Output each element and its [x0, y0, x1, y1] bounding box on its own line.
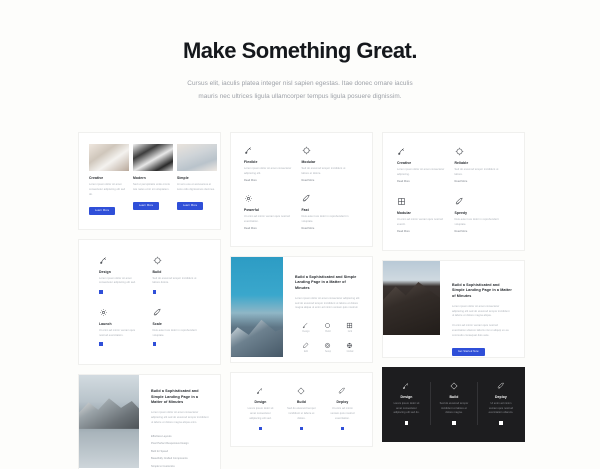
item-body: Ut enim ad minim veniam quis nostrud exe…: [328, 407, 357, 421]
item-body: Lorem ipsum dolor sit amet consectetur a…: [391, 402, 422, 416]
desk-flatlay-photo: [89, 144, 129, 171]
icon-item[interactable]: Global: [339, 342, 361, 353]
grid-column-2: Flexible Lorem ipsum dolor sit amet cons…: [230, 132, 373, 469]
icon-label: Design: [295, 331, 317, 333]
split-layout: Build a Sophisticated and Simple Landing…: [383, 261, 524, 357]
gear-icon: [244, 194, 295, 203]
card-title: Build a Sophisticated and Simple Landing…: [151, 389, 210, 406]
item-title: Launch: [99, 322, 144, 327]
icon-item[interactable]: Scale Duis aute irure dolor in reprehend…: [153, 308, 207, 346]
icon-item[interactable]: Deploy Ut enim ad minim veniam quis nost…: [322, 387, 363, 430]
card-body: Lorem ipsum dolor sit amet consectetur a…: [295, 297, 361, 311]
read-more-link[interactable]: Read More: [302, 179, 353, 183]
snow-mountain-blue-sky-photo: [231, 257, 283, 357]
grid-icon: [346, 322, 353, 329]
list-item: Effortless Layouts: [151, 435, 210, 439]
list-item: Pixel Perfect Responsive Design: [151, 442, 210, 446]
gear-icon: [99, 308, 144, 317]
image-columns-card[interactable]: Creative Lorem ipsum dolor sit amet cons…: [78, 132, 221, 230]
brush-icon: [244, 146, 295, 155]
item-body: Duis aute irure dolor in reprehenderit v…: [153, 329, 198, 339]
item-body: Lorem ipsum dolor sit amet consectetur a…: [244, 167, 295, 177]
icon-grid: Flexible Lorem ipsum dolor sit amet cons…: [244, 146, 359, 231]
icon-item[interactable]: Fast Duis aute irure dolor in reprehende…: [302, 194, 360, 231]
read-more-link[interactable]: Read More: [244, 227, 295, 231]
icon-item[interactable]: Grid: [339, 322, 361, 333]
accent-square: [341, 427, 345, 431]
item-title: Creative: [89, 176, 129, 181]
learn-more-button[interactable]: Learn More: [177, 202, 203, 210]
accent-square: [99, 290, 103, 294]
icon-grid: Creative Lorem ipsum dolor sit amet cons…: [397, 147, 512, 234]
split-layout: Build a Sophisticated and Simple Landing…: [231, 257, 372, 363]
icon-row: Design Lorem ipsum dolor sit amet consec…: [240, 387, 363, 430]
dark-three-column-card[interactable]: Design Lorem ipsum dolor sit amet consec…: [382, 367, 525, 442]
split-content: Build a Sophisticated and Simple Landing…: [139, 375, 220, 469]
item-title: Creative: [397, 161, 447, 166]
item-body: Ut enim ad minim veniam quis nostrud exe…: [397, 218, 447, 228]
icon-item[interactable]: Design Lorem ipsum dolor sit amet consec…: [240, 387, 281, 430]
accent-square: [153, 290, 157, 294]
rocket-icon: [455, 197, 505, 206]
icon-item[interactable]: Design Lorem ipsum dolor sit amet consec…: [383, 382, 430, 425]
icon-grid-blue-card[interactable]: Design Lorem ipsum dolor sit amet consec…: [78, 239, 221, 365]
item-body: Sed do eiusmod tempor incididunt ut labo…: [287, 407, 316, 421]
item-body: Sed ut perspiciatis unde omnis iste natu…: [133, 183, 173, 193]
mini-icon-grid: Design Build: [295, 322, 361, 362]
gear-icon: [324, 342, 331, 349]
icon-item[interactable]: Modular Sed do eiusmod tempor incididunt…: [302, 146, 360, 183]
rocket-icon: [153, 308, 198, 317]
icon-item[interactable]: Build Sed do eiusmod tempor incididunt u…: [430, 382, 477, 425]
icon-item[interactable]: Modular Ut enim ad minim veniam quis nos…: [397, 197, 455, 234]
item-title: Design: [99, 270, 144, 275]
split-layout: Build a Sophisticated and Simple Landing…: [79, 375, 220, 469]
learn-more-button[interactable]: Learn More: [133, 202, 159, 210]
item-title: Deploy: [486, 395, 516, 400]
item-body: Sed do eiusmod tempor incididunt ut labo…: [153, 277, 198, 287]
circle-icon: [324, 322, 331, 329]
item-title: Design: [246, 400, 275, 405]
rocket-icon: [497, 382, 505, 390]
circle-icon: [455, 147, 505, 156]
circle-icon: [450, 382, 458, 390]
brush-icon: [256, 387, 264, 395]
split-content: Build a Sophisticated and Simple Landing…: [283, 257, 372, 363]
card-body-first: Lorem ipsum dolor sit amet consectetur a…: [452, 305, 512, 319]
accent-square: [300, 427, 304, 431]
item-title: Build: [439, 395, 469, 400]
icon-item[interactable]: Reliable Sed do eiusmod tempor incididun…: [455, 147, 513, 184]
rocket-icon: [338, 387, 346, 395]
icon-item[interactable]: Flexible Lorem ipsum dolor sit amet cons…: [244, 146, 302, 183]
page-root: Make Something Great. Cursus elit, iacul…: [0, 0, 600, 469]
list-item: Simple to Customize: [151, 465, 210, 469]
item-title: Reliable: [455, 161, 505, 166]
item-body: Sed do eiusmod tempor incididunt ut labo…: [455, 168, 505, 178]
card-body-second: Ut enim ad minim veniam quis nostrud exe…: [452, 324, 512, 338]
icon-label: Global: [339, 351, 361, 353]
alpine-lake-boat-photo: [79, 375, 139, 468]
icon-item[interactable]: Build Sed do eiusmod tempor incididunt u…: [281, 387, 322, 430]
photo-split-button-card[interactable]: Build a Sophisticated and Simple Landing…: [382, 260, 525, 358]
icon-item[interactable]: Deploy Ut enim ad minim veniam quis nost…: [477, 382, 524, 425]
read-more-link[interactable]: Read More: [397, 180, 447, 184]
icon-label: Build: [317, 331, 339, 333]
item-title: Modular: [302, 160, 353, 165]
three-column-icons-card[interactable]: Design Lorem ipsum dolor sit amet consec…: [230, 372, 373, 447]
icon-item[interactable]: Powerful Ut enim ad minim veniam quis no…: [244, 194, 302, 231]
item-body: Ut enim ad minim veniam quis nostrud exe…: [244, 215, 295, 225]
list-item: Built for Speed: [151, 450, 210, 454]
image-row: Creative Lorem ipsum dolor sit amet cons…: [89, 144, 210, 216]
icon-item[interactable]: Build Sed do eiusmod tempor incididunt u…: [153, 256, 207, 294]
hero-section: Make Something Great. Cursus elit, iacul…: [0, 0, 600, 103]
read-more-link[interactable]: Read More: [397, 230, 447, 234]
item-body: Sed do eiusmod tempor incididunt ut labo…: [439, 402, 469, 416]
icon-row: Design Lorem ipsum dolor sit amet consec…: [383, 382, 524, 425]
dark-volcanic-mountain-photo: [383, 261, 440, 335]
icon-item[interactable]: Launch Ut enim ad minim veniam quis nost…: [99, 308, 153, 346]
item-title: Scale: [153, 322, 198, 327]
icon-item[interactable]: Creative Lorem ipsum dolor sit amet cons…: [397, 147, 455, 184]
learn-more-button[interactable]: Learn More: [89, 207, 115, 215]
circle-icon: [302, 146, 353, 155]
circle-icon: [297, 387, 305, 395]
card-title: Build a Sophisticated and Simple Landing…: [295, 275, 361, 292]
item-title: Flexible: [244, 160, 295, 165]
item-title: Modular: [397, 211, 447, 216]
photo-split-icons-card[interactable]: Build a Sophisticated and Simple Landing…: [230, 256, 373, 364]
brush-icon: [402, 382, 410, 390]
accent-square: [99, 342, 103, 346]
icon-grid-card-wide[interactable]: Creative Lorem ipsum dolor sit amet cons…: [382, 132, 525, 251]
brush-icon: [397, 147, 447, 156]
item-title: Deploy: [328, 400, 357, 405]
accent-square: [452, 421, 456, 425]
item-title: Modern: [133, 176, 173, 181]
item-title: Simple: [177, 176, 217, 181]
pencil-icon: [302, 342, 309, 349]
grid-icon: [397, 197, 447, 206]
card-body: Lorem ipsum dolor sit amet consectetur a…: [151, 411, 210, 425]
feature-list: Effortless Layouts Pixel Perfect Respons…: [151, 435, 210, 469]
item-body: Sed do eiusmod tempor incididunt ut labo…: [302, 167, 353, 177]
item-body: Ut enim ad minim veniam quis nostrud exe…: [99, 329, 144, 339]
card-title: Build a Sophisticated and Simple Landing…: [452, 283, 512, 300]
read-more-link[interactable]: Read More: [455, 180, 505, 184]
accent-square: [259, 427, 263, 431]
item-body: Lorem ipsum dolor sit amet consectetur a…: [99, 277, 144, 287]
page-subtitle: Cursus elit, iaculis platea integer nisl…: [184, 78, 416, 103]
rocket-icon: [302, 194, 353, 203]
item-body: Ut enim ad minim veniam quis nostrud exe…: [486, 402, 516, 416]
item-title: Speedy: [455, 211, 505, 216]
item-body: Lorem ipsum dolor sit amet consectetur a…: [89, 183, 129, 197]
grid-column-1: Creative Lorem ipsum dolor sit amet cons…: [78, 132, 221, 469]
item-title: Build: [153, 270, 198, 275]
brush-icon: [302, 322, 309, 329]
circle-icon: [153, 256, 198, 265]
accent-square: [153, 342, 157, 346]
page-title: Make Something Great.: [0, 38, 600, 64]
read-more-link[interactable]: Read More: [455, 230, 505, 234]
photo-split-list-card[interactable]: Build a Sophisticated and Simple Landing…: [78, 374, 221, 469]
image-item[interactable]: Creative Lorem ipsum dolor sit amet cons…: [89, 144, 129, 216]
get-started-button[interactable]: Get Started Now: [452, 348, 485, 356]
accent-square: [405, 421, 409, 425]
item-body: Duis aute irure dolor in reprehenderit v…: [455, 218, 505, 228]
accent-square: [499, 421, 503, 425]
icon-item[interactable]: Speedy Duis aute irure dolor in reprehen…: [455, 197, 513, 234]
read-more-link[interactable]: Read More: [244, 179, 295, 183]
icon-item[interactable]: Design: [295, 322, 317, 333]
item-body: Duis aute irure dolor in reprehenderit i…: [302, 215, 353, 225]
icon-item[interactable]: Build: [317, 322, 339, 333]
icon-item[interactable]: Setup: [317, 342, 339, 353]
item-title: Powerful: [244, 208, 295, 213]
icon-label: Grid: [339, 331, 361, 333]
item-body: At vero eos et accusamus et iusto odio d…: [177, 183, 217, 193]
brush-icon: [99, 256, 144, 265]
image-item[interactable]: Simple At vero eos et accusamus et iusto…: [177, 144, 217, 216]
card-grid: Creative Lorem ipsum dolor sit amet cons…: [78, 132, 526, 469]
item-title: Build: [287, 400, 316, 405]
icon-item[interactable]: Edit: [295, 342, 317, 353]
workspace-photo: [133, 144, 173, 171]
icon-label: Edit: [295, 351, 317, 353]
item-body: Lorem ipsum dolor sit amet consectetur a…: [397, 168, 447, 178]
item-title: Fast: [302, 208, 353, 213]
item-title: Design: [391, 395, 422, 400]
image-item[interactable]: Modern Sed ut perspiciatis unde omnis is…: [133, 144, 173, 216]
list-item: Beautifully Crafted Components: [151, 457, 210, 461]
read-more-link[interactable]: Read More: [302, 227, 353, 231]
icon-label: Setup: [317, 351, 339, 353]
icon-grid: Design Lorem ipsum dolor sit amet consec…: [99, 256, 206, 346]
globe-icon: [346, 342, 353, 349]
icon-grid-card[interactable]: Flexible Lorem ipsum dolor sit amet cons…: [230, 132, 373, 247]
grid-column-3: Creative Lorem ipsum dolor sit amet cons…: [382, 132, 525, 469]
item-body: Lorem ipsum dolor sit amet consectetur a…: [246, 407, 275, 421]
icon-item[interactable]: Design Lorem ipsum dolor sit amet consec…: [99, 256, 153, 294]
split-content: Build a Sophisticated and Simple Landing…: [440, 261, 524, 357]
device-photo: [177, 144, 217, 171]
